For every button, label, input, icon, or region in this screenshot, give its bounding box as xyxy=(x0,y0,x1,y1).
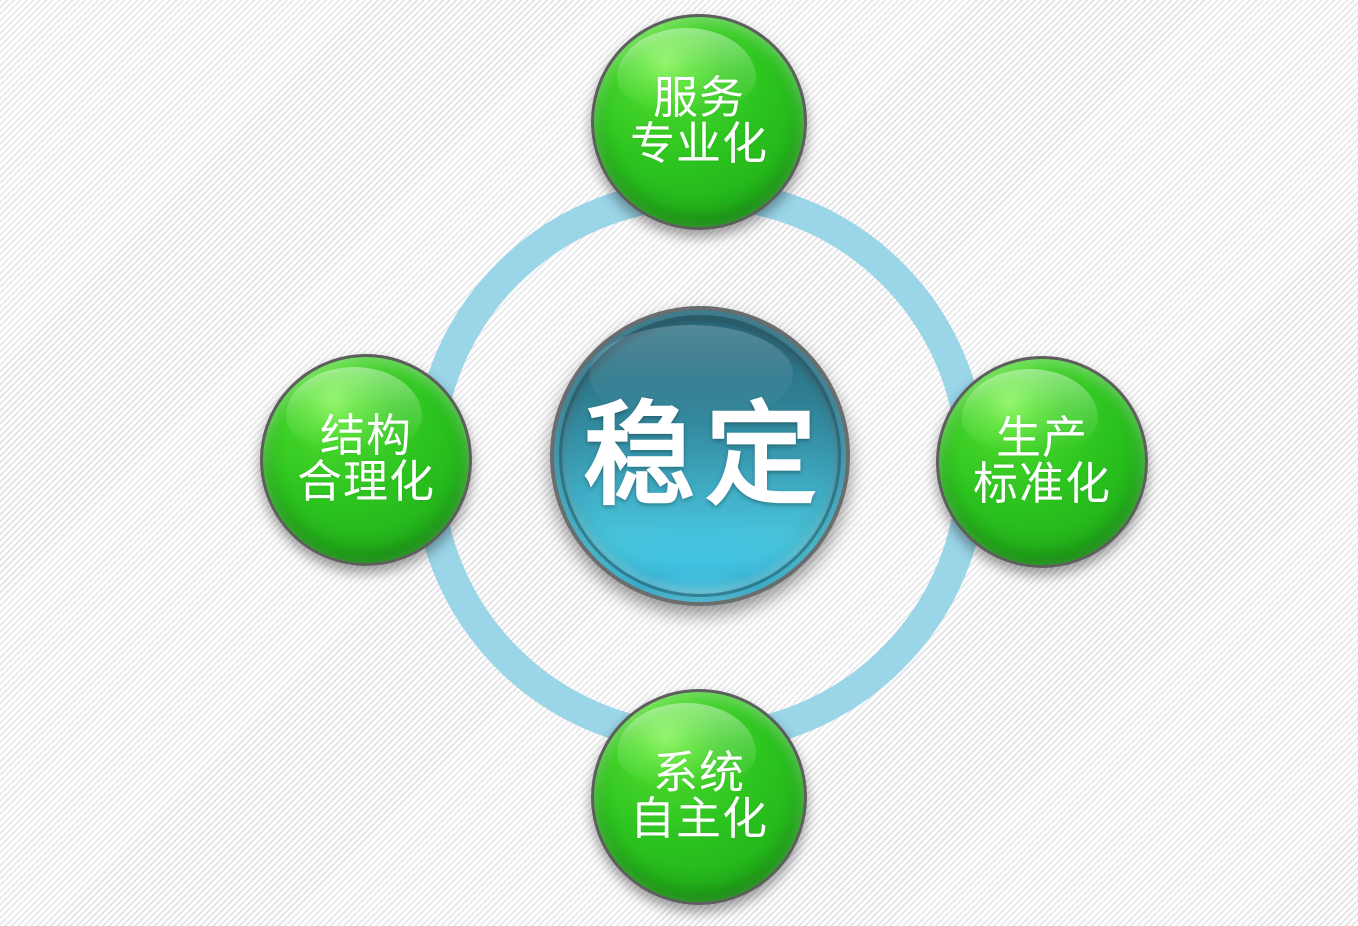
hub-circle[interactable]: 稳定 xyxy=(550,306,850,606)
hub-label: 稳定 xyxy=(573,399,827,513)
node-service-line1: 服务 xyxy=(653,76,745,122)
node-service-line2: 专业化 xyxy=(630,122,768,168)
node-production-line1: 生产 xyxy=(996,416,1088,462)
node-structure-line1: 结构 xyxy=(320,414,412,460)
node-production[interactable]: 生产 标准化 xyxy=(936,356,1148,568)
node-structure-line2: 合理化 xyxy=(297,460,435,506)
node-production-line2: 标准化 xyxy=(973,462,1111,508)
node-service[interactable]: 服务 专业化 xyxy=(591,14,807,230)
node-system-line2: 自主化 xyxy=(630,797,768,843)
diagram-canvas: 服务 专业化 生产 标准化 系统 自主化 结构 合理化 稳定 xyxy=(0,0,1358,926)
node-system-line1: 系统 xyxy=(653,751,745,797)
node-structure[interactable]: 结构 合理化 xyxy=(260,354,472,566)
node-system[interactable]: 系统 自主化 xyxy=(591,689,807,905)
